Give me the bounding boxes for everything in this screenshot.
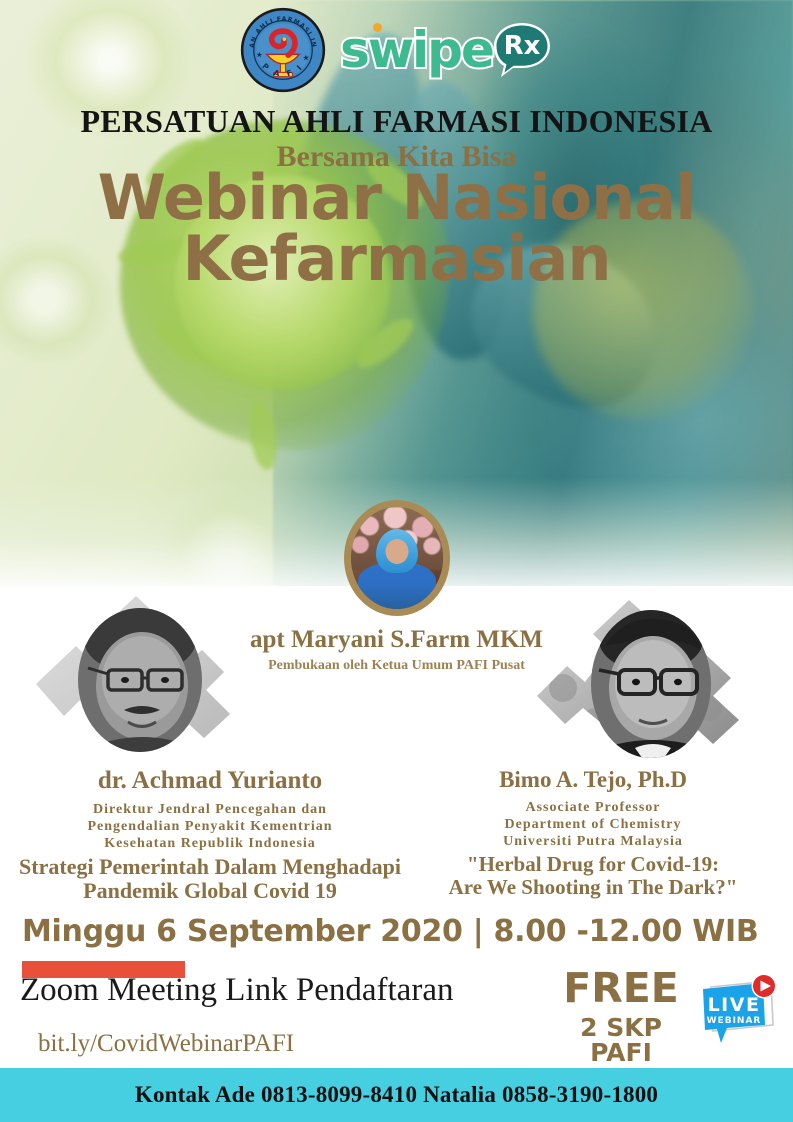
speaker-right-affiliation-line2: Department of Chemistry [393, 816, 793, 833]
price-label: FREE [546, 968, 696, 1009]
pafi-logo-icon: PERSATUAN AHLI FARMASI INDONESIA ★ P A F… [240, 7, 326, 93]
svg-text:Rx: Rx [503, 31, 540, 61]
speaker-right-topic: "Herbal Drug for Covid-19: Are We Shooti… [393, 853, 793, 898]
credits-label: 2 SKP PAFI [546, 1015, 696, 1065]
svg-text:WEBINAR: WEBINAR [707, 1016, 762, 1026]
speaker-left-photo [18, 588, 268, 773]
speaker-right: Bimo A. Tejo, Ph.D Associate Professor D… [393, 588, 793, 899]
speaker-right-topic-line1: "Herbal Drug for Covid-19: [393, 853, 793, 876]
speaker-left-topic-line1: Strategi Pemerintah Dalam Menghadapi [0, 855, 420, 879]
speaker-left-affiliation: Direktur Jendral Pencegahan dan Pengenda… [0, 801, 420, 852]
contact-text: Kontak Ade 0813-8099-8410 Natalia 0858-3… [135, 1082, 658, 1108]
logo-row: PERSATUAN AHLI FARMASI INDONESIA ★ P A F… [0, 6, 793, 94]
speaker-left-affiliation-line1: Direktur Jendral Pencegahan dan [0, 801, 420, 818]
speaker-left-affiliation-line2: Pengendalian Penyakit Kementrian [0, 818, 420, 835]
price-block: FREE 2 SKP PAFI [546, 968, 696, 1065]
main-title-line2: Kefarmasian [0, 229, 793, 290]
organization-title: PERSATUAN AHLI FARMASI INDONESIA [0, 103, 793, 140]
svg-text:LIVE: LIVE [708, 994, 761, 1016]
speaker-left-topic: Strategi Pemerintah Dalam Menghadapi Pan… [0, 855, 420, 903]
swipe-wordmark: swipe [340, 25, 493, 75]
speaker-right-affiliation-line3: Universiti Putra Malaysia [393, 833, 793, 850]
swipe-wordmark-text: swipe [340, 21, 493, 79]
speaker-right-photo [523, 588, 773, 773]
swiperx-logo: swipe Rx [340, 21, 553, 79]
speaker-right-affiliation: Associate Professor Department of Chemis… [393, 799, 793, 850]
speaker-left-affiliation-line3: Kesehatan Republik Indonesia [0, 835, 420, 852]
webinar-poster: PERSATUAN AHLI FARMASI INDONESIA ★ P A F… [0, 0, 793, 1122]
registration-link[interactable]: bit.ly/CovidWebinarPAFI [38, 1030, 294, 1058]
rx-bubble-icon: Rx [491, 21, 553, 79]
avatar-face [385, 539, 408, 564]
speaker-left: dr. Achmad Yurianto Direktur Jendral Pen… [0, 588, 420, 903]
speaker-left-topic-line2: Pandemik Global Covid 19 [0, 879, 420, 903]
speaker-right-affiliation-line1: Associate Professor [393, 799, 793, 816]
main-title: Webinar Nasional Kefarmasian [0, 168, 793, 290]
contact-footer: Kontak Ade 0813-8099-8410 Natalia 0858-3… [0, 1068, 793, 1122]
event-date-time: Minggu 6 September 2020 | 8.00 -12.00 WI… [22, 914, 758, 949]
live-webinar-badge-icon: LIVE WEBINAR [697, 973, 781, 1049]
speaker-right-topic-line2: Are We Shooting in The Dark?" [393, 876, 793, 899]
event-platform-line: Zoom Meeting Link Pendaftaran [20, 972, 453, 1009]
